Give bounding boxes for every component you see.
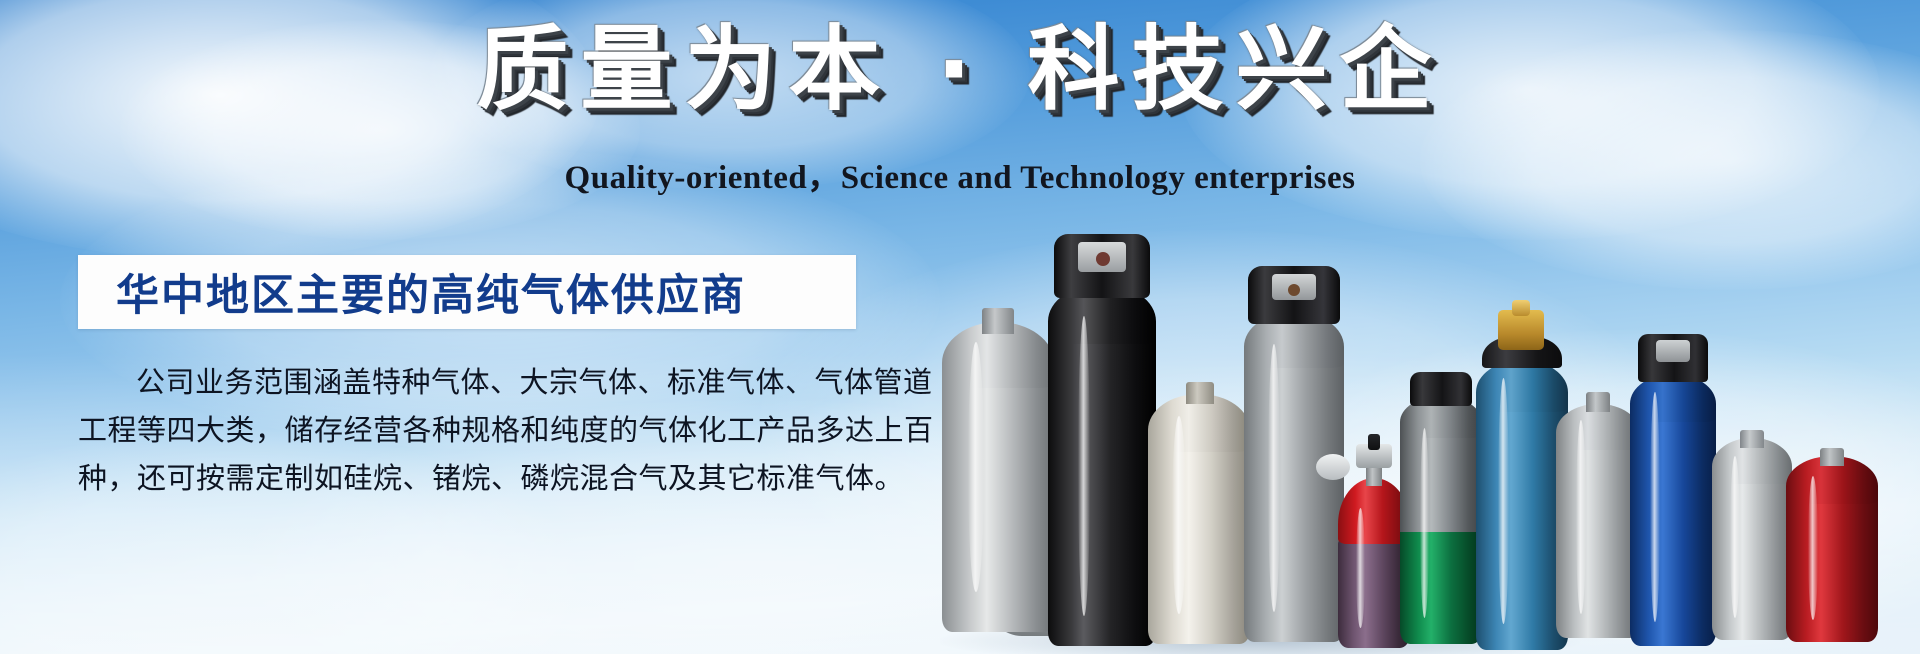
cylinder-aluminium-tall xyxy=(1556,380,1640,638)
cylinder-grey-tall-left xyxy=(942,302,1054,632)
cylinder-green-small xyxy=(1400,374,1482,644)
cylinder-blue-teal xyxy=(1476,298,1568,650)
promotional-banner: 质量为本 · 科技兴企 Quality-oriented，Science and… xyxy=(0,0,1920,654)
cylinder-grey-capped xyxy=(1244,260,1344,642)
cylinder-cream-medium xyxy=(1148,376,1250,644)
highlight-box-text: 华中地区主要的高纯气体供应商 xyxy=(78,261,746,323)
cylinder-blue-dark xyxy=(1630,322,1716,646)
headline-chinese: 质量为本 · 科技兴企 xyxy=(0,22,1920,119)
body-paragraph: 公司业务范围涵盖特种气体、大宗气体、标准气体、气体管道 工程等四大类，储存经营各… xyxy=(78,358,868,502)
highlight-box: 华中地区主要的高纯气体供应商 xyxy=(78,255,856,329)
paragraph-line: 工程等四大类，储存经营各种规格和纯度的气体化工产品多达上百 xyxy=(78,406,868,454)
cylinder-aluminium-short xyxy=(1712,422,1792,640)
cylinder-black-tall xyxy=(1048,228,1156,646)
paragraph-line: 公司业务范围涵盖特种气体、大宗气体、标准气体、气体管道 xyxy=(78,358,868,406)
cylinder-red-large-right xyxy=(1786,444,1878,642)
paragraph-line: 种，还可按需定制如硅烷、锗烷、磷烷混合气及其它标准气体。 xyxy=(78,454,868,502)
gas-cylinder-group xyxy=(930,120,1590,654)
